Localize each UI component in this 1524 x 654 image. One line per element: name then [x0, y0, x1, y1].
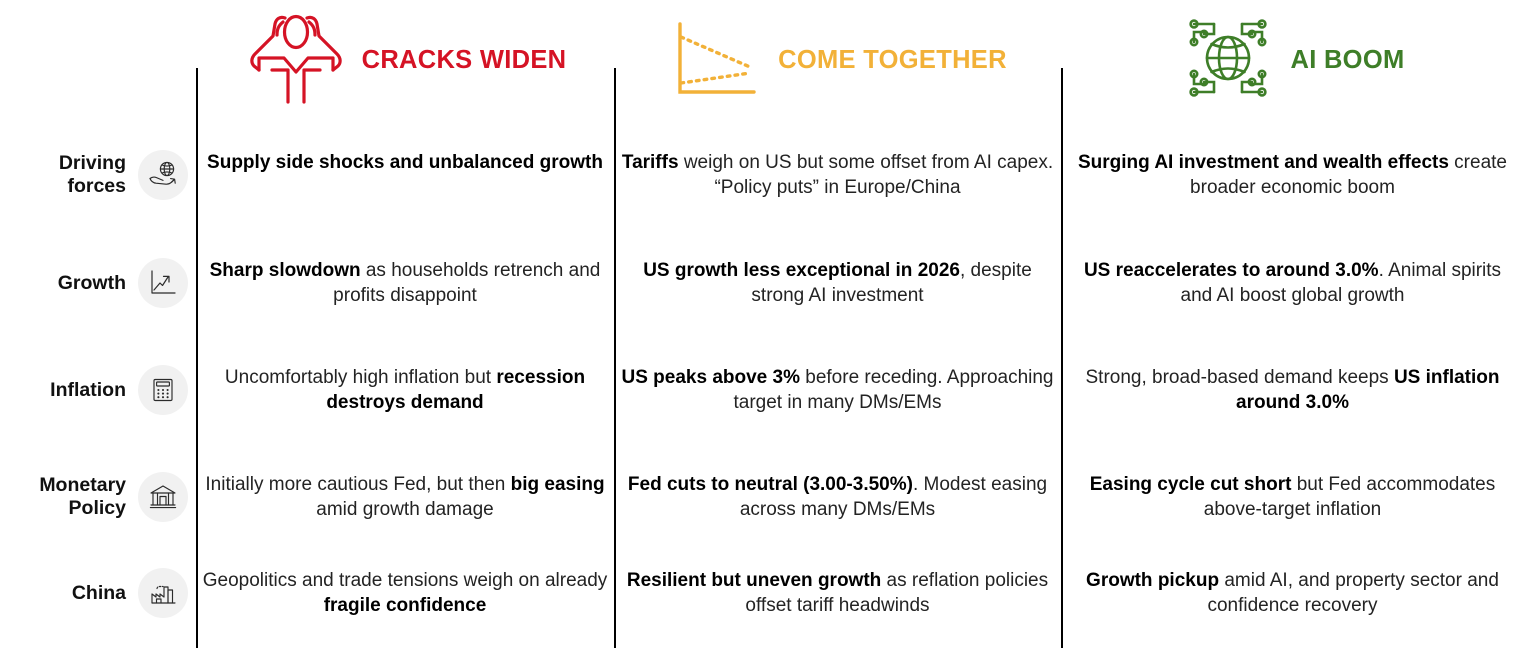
globe-in-hand-icon [138, 150, 188, 200]
scenario-title: CRACKS WIDEN [362, 46, 567, 75]
cell-growth-cracks-widen: Sharp slowdown as households retrench an… [196, 258, 614, 309]
cell-inflation-come-together: US peaks above 3% before receding. Appro… [614, 365, 1061, 416]
cell-monetary-policy-ai-boom: Easing cycle cut short but Fed accommoda… [1061, 472, 1524, 523]
cell-monetary-policy-cracks-widen: Initially more cautious Fed, but then bi… [196, 472, 614, 523]
scenario-title: COME TOGETHER [778, 46, 1007, 75]
scenario-header-come-together: COME TOGETHER [614, 8, 1061, 112]
calculator-icon [138, 365, 188, 415]
cell-inflation-ai-boom: Strong, broad-based demand keeps US infl… [1061, 365, 1524, 416]
row-label-driving-forces: Drivingforces [0, 150, 196, 200]
row-label-monetary-policy: MonetaryPolicy [0, 472, 196, 522]
cell-china-ai-boom: Growth pickup amid AI, and property sect… [1061, 568, 1524, 619]
cell-inflation-cracks-widen: Uncomfortably high inflation but recessi… [196, 365, 614, 416]
scenario-header-ai-boom: AI BOOM [1061, 8, 1524, 112]
cell-china-come-together: Resilient but uneven growth as reflation… [614, 568, 1061, 619]
row-label-text: Inflation [50, 379, 126, 402]
cell-driving-forces-cracks-widen: Supply side shocks and unbalanced growth [196, 150, 614, 175]
central-bank-icon [138, 472, 188, 522]
scenario-headers: CRACKS WIDEN COME TOGETHER [0, 0, 1524, 120]
globe-circuit-icon [1180, 10, 1276, 111]
cell-monetary-policy-come-together: Fed cuts to neutral (3.00-3.50%). Modest… [614, 472, 1061, 523]
row-label-text: MonetaryPolicy [39, 474, 126, 520]
converging-fan-chart-icon [668, 10, 764, 111]
row-label-inflation: Inflation [0, 365, 196, 415]
stressed-person-icon [244, 10, 348, 111]
row-label-text: Growth [58, 272, 126, 295]
cell-growth-ai-boom: US reaccelerates to around 3.0%. Animal … [1061, 258, 1524, 309]
scenario-title: AI BOOM [1290, 46, 1404, 75]
factory-icon [138, 568, 188, 618]
cell-driving-forces-come-together: Tariffs weigh on US but some offset from… [614, 150, 1061, 201]
scenario-header-cracks-widen: CRACKS WIDEN [196, 8, 614, 112]
row-label-growth: Growth [0, 258, 196, 308]
scenario-matrix: CRACKS WIDEN COME TOGETHER [0, 0, 1524, 654]
cell-growth-come-together: US growth less exceptional in 2026, desp… [614, 258, 1061, 309]
cell-driving-forces-ai-boom: Surging AI investment and wealth effects… [1061, 150, 1524, 201]
row-label-text: China [72, 582, 126, 605]
cell-china-cracks-widen: Geopolitics and trade tensions weigh on … [196, 568, 614, 619]
line-chart-up-icon [138, 258, 188, 308]
row-label-text: Drivingforces [59, 152, 126, 198]
row-label-china: China [0, 568, 196, 618]
